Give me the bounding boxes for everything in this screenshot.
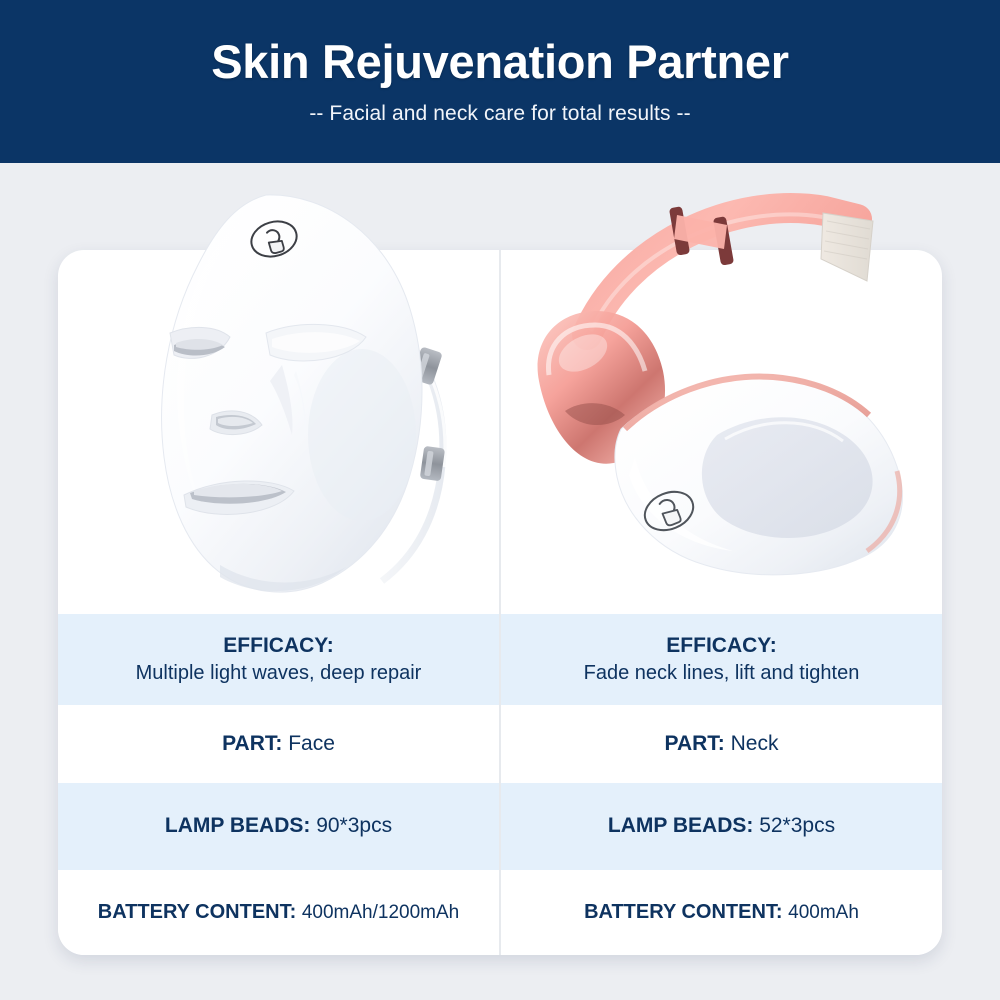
spec-cell-efficacy-neck-device: EFFICACY: Fade neck lines, lift and tigh… [499, 614, 942, 705]
spec-cell-battery-face-mask: BATTERY CONTENT: 400mAh/1200mAh [58, 870, 499, 955]
spec-value-efficacy-left: Multiple light waves, deep repair [136, 660, 422, 687]
header-banner: Skin Rejuvenation Partner -- Facial and … [0, 0, 1000, 163]
spec-label-part-left: PART: [222, 732, 288, 755]
page-subtitle: -- Facial and neck care for total result… [309, 102, 690, 126]
spec-value-part-left: Face [288, 732, 335, 755]
spec-cell-part-face-mask: PART: Face [58, 705, 499, 783]
spec-label-part-right: PART: [665, 732, 731, 755]
spec-value-efficacy-right: Fade neck lines, lift and tighten [584, 660, 860, 687]
spec-text-part-right: PART: Neck [665, 730, 779, 758]
spec-cell-efficacy-face-mask: EFFICACY: Multiple light waves, deep rep… [58, 614, 499, 705]
spec-row-efficacy: EFFICACY: Multiple light waves, deep rep… [58, 614, 942, 705]
page-title: Skin Rejuvenation Partner [211, 37, 789, 86]
spec-row-battery-content: BATTERY CONTENT: 400mAh/1200mAh BATTERY … [58, 870, 942, 955]
spec-cell-battery-neck-device: BATTERY CONTENT: 400mAh [499, 870, 942, 955]
spec-text-battery-right: BATTERY CONTENT: 400mAh [584, 899, 859, 926]
product-comparison-page: Skin Rejuvenation Partner -- Facial and … [0, 0, 1000, 1000]
spec-cell-lamp-beads-face-mask: LAMP BEADS: 90*3pcs [58, 783, 499, 870]
spec-row-lamp-beads: LAMP BEADS: 90*3pcs LAMP BEADS: 52*3pcs [58, 783, 942, 870]
spec-text-part-left: PART: Face [222, 730, 335, 758]
spec-label-battery-right: BATTERY CONTENT: [584, 901, 788, 923]
spec-value-battery-right: 400mAh [788, 902, 859, 923]
spec-text-lamp-beads-right: LAMP BEADS: 52*3pcs [608, 812, 835, 840]
spec-label-lamp-beads-left: LAMP BEADS: [165, 814, 316, 837]
spec-value-battery-left: 400mAh/1200mAh [302, 902, 459, 923]
spec-cell-lamp-beads-neck-device: LAMP BEADS: 52*3pcs [499, 783, 942, 870]
spec-value-lamp-beads-left: 90*3pcs [316, 814, 392, 837]
spec-label-efficacy-right: EFFICACY: [666, 632, 776, 660]
spec-cell-part-neck-device: PART: Neck [499, 705, 942, 783]
spec-table: EFFICACY: Multiple light waves, deep rep… [58, 614, 942, 955]
spec-label-battery-left: BATTERY CONTENT: [98, 901, 302, 923]
spec-label-lamp-beads-right: LAMP BEADS: [608, 814, 759, 837]
spec-row-part: PART: Face PART: Neck [58, 705, 942, 783]
spec-text-lamp-beads-left: LAMP BEADS: 90*3pcs [165, 812, 392, 840]
spec-value-lamp-beads-right: 52*3pcs [759, 814, 835, 837]
spec-value-part-right: Neck [731, 732, 779, 755]
spec-text-battery-left: BATTERY CONTENT: 400mAh/1200mAh [98, 899, 459, 926]
spec-label-efficacy-left: EFFICACY: [223, 632, 333, 660]
